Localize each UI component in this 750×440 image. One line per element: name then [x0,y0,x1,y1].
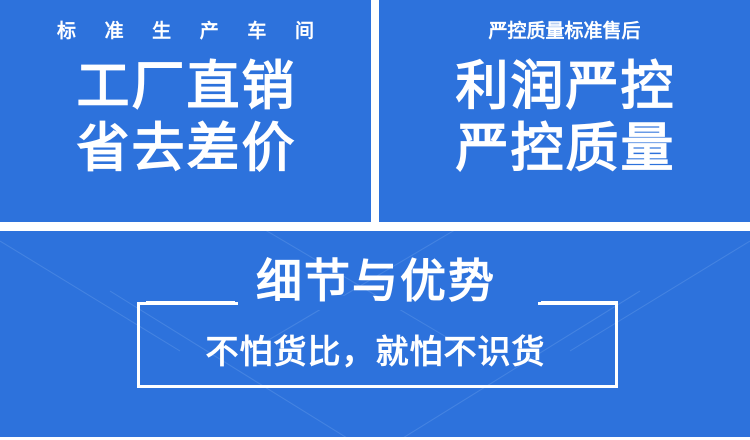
headline-factory-direct-line1: 工厂直销 [75,57,297,116]
eyebrow-quality-aftersales: 严控质量标准售后 [488,22,640,41]
eyebrow-standard-workshop: 标 准 生 产 车 间 [46,22,325,41]
headline-quality-control-line1: 利润严控 [454,57,676,116]
headline-quality-control-line2: 严控质量 [454,119,676,178]
subtitle-compare-goods: 不怕货比，就怕不识货 [0,335,750,368]
panel-factory-direct-content: 标 准 生 产 车 间 工厂直销 省去差价 [0,0,371,222]
title-details-advantages: 细节与优势 [0,258,750,304]
panel-quality-control: 严控质量标准售后 利润严控 严控质量 [379,0,750,222]
promo-banner: 标 准 生 产 车 间 工厂直销 省去差价 严控质量标准售后 利润严控 严控质量 [0,0,750,440]
headline-factory-direct-line2: 省去差价 [75,119,297,178]
panel-quality-control-content: 严控质量标准售后 利润严控 严控质量 [379,0,750,222]
panel-factory-direct: 标 准 生 产 车 间 工厂直销 省去差价 [0,0,371,222]
